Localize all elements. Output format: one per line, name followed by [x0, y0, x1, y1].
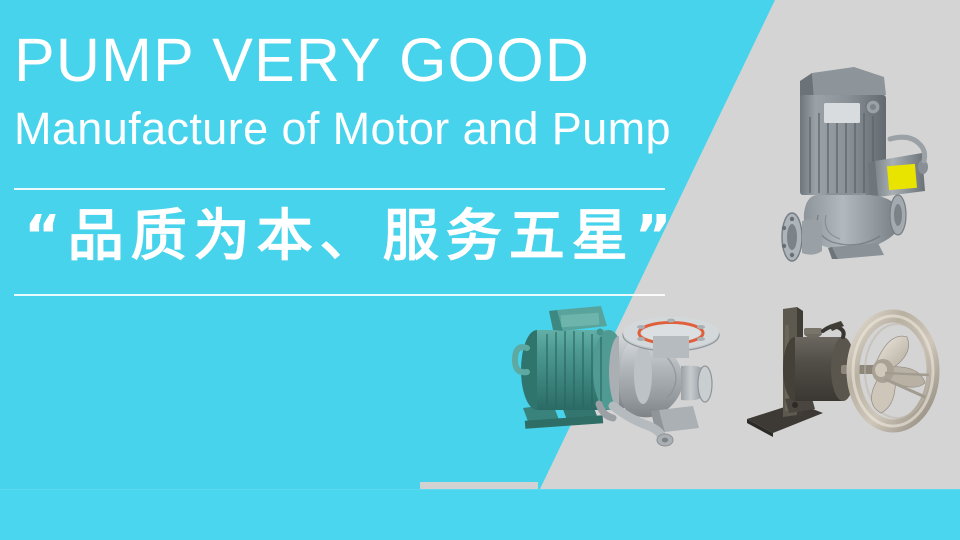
promo-banner: PUMP VERY GOOD Manufacture of Motor and … — [0, 0, 960, 540]
divider-line-top — [14, 188, 665, 190]
slogan-text: “品质为本、服务五星” — [24, 196, 679, 277]
page-subtitle: Manufacture of Motor and Pump — [14, 104, 671, 154]
bottom-cyan-band — [0, 489, 960, 540]
divider-line-bottom — [14, 294, 665, 296]
page-title: PUMP VERY GOOD — [14, 28, 590, 92]
product-image-horizontal-motor-pump — [495, 300, 735, 465]
product-image-vertical-pipeline-pump — [770, 55, 945, 255]
product-image-submersible-mixer — [745, 295, 950, 455]
bottom-gray-tab — [420, 482, 538, 489]
